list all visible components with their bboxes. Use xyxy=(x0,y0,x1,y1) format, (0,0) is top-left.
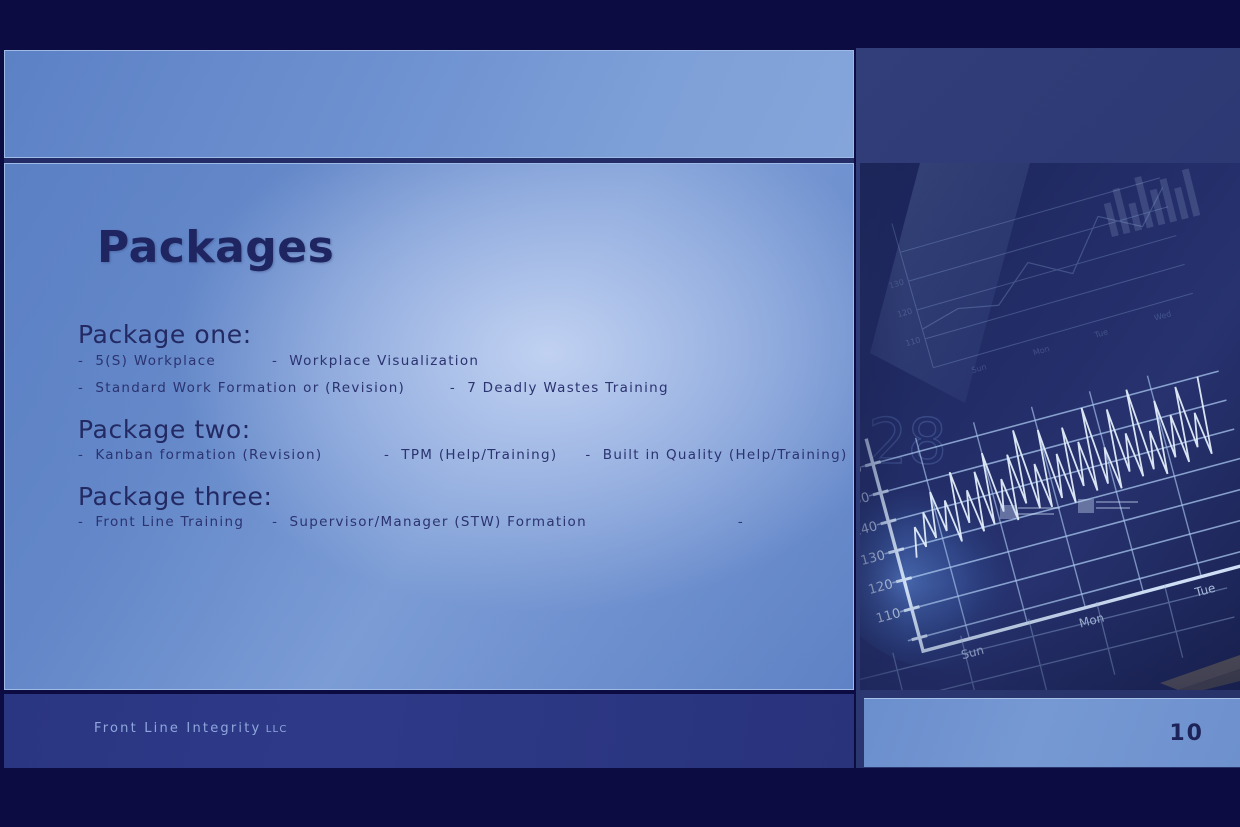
page-number: 10 xyxy=(1169,721,1204,746)
footer-company-suffix: LLC xyxy=(261,724,287,735)
chart-photo-graphic: 130 120 110 Sun Mon Tue Wed xyxy=(860,163,1240,690)
footer-bar: Front Line Integrity LLC xyxy=(4,694,854,768)
list-item: - 5(S) Workplace - Workplace Visualizati… xyxy=(78,355,838,369)
list-item: - Kanban formation (Revision) - TPM (Hel… xyxy=(78,449,838,463)
header-panel xyxy=(4,50,854,158)
package-group-three: Package three: - Front Line Training - S… xyxy=(78,483,838,530)
financial-chart-photo: 130 120 110 Sun Mon Tue Wed xyxy=(860,163,1240,690)
package-two-heading: Package two: xyxy=(78,416,838,444)
page-number-box: 10 xyxy=(864,698,1240,767)
package-two-items: - Kanban formation (Revision) - TPM (Hel… xyxy=(78,449,838,463)
package-one-heading: Package one: xyxy=(78,321,838,349)
package-three-heading: Package three: xyxy=(78,483,838,511)
package-three-items: - Front Line Training - Supervisor/Manag… xyxy=(78,516,838,530)
package-one-items: - 5(S) Workplace - Workplace Visualizati… xyxy=(78,355,838,396)
footer-company: Front Line Integrity LLC xyxy=(94,721,288,736)
package-group-one: Package one: - 5(S) Workplace - Workplac… xyxy=(78,321,838,396)
package-group-two: Package two: - Kanban formation (Revisio… xyxy=(78,416,838,463)
content-panel: Packages Package one: - 5(S) Workplace -… xyxy=(4,163,854,690)
footer-company-name: Front Line Integrity xyxy=(94,721,261,736)
list-item: - Standard Work Formation or (Revision) … xyxy=(78,382,838,396)
page-title: Packages xyxy=(97,222,334,273)
packages-list: Package one: - 5(S) Workplace - Workplac… xyxy=(78,321,838,550)
list-item: - Front Line Training - Supervisor/Manag… xyxy=(78,516,838,530)
slide-canvas: Packages Package one: - 5(S) Workplace -… xyxy=(0,0,1240,827)
